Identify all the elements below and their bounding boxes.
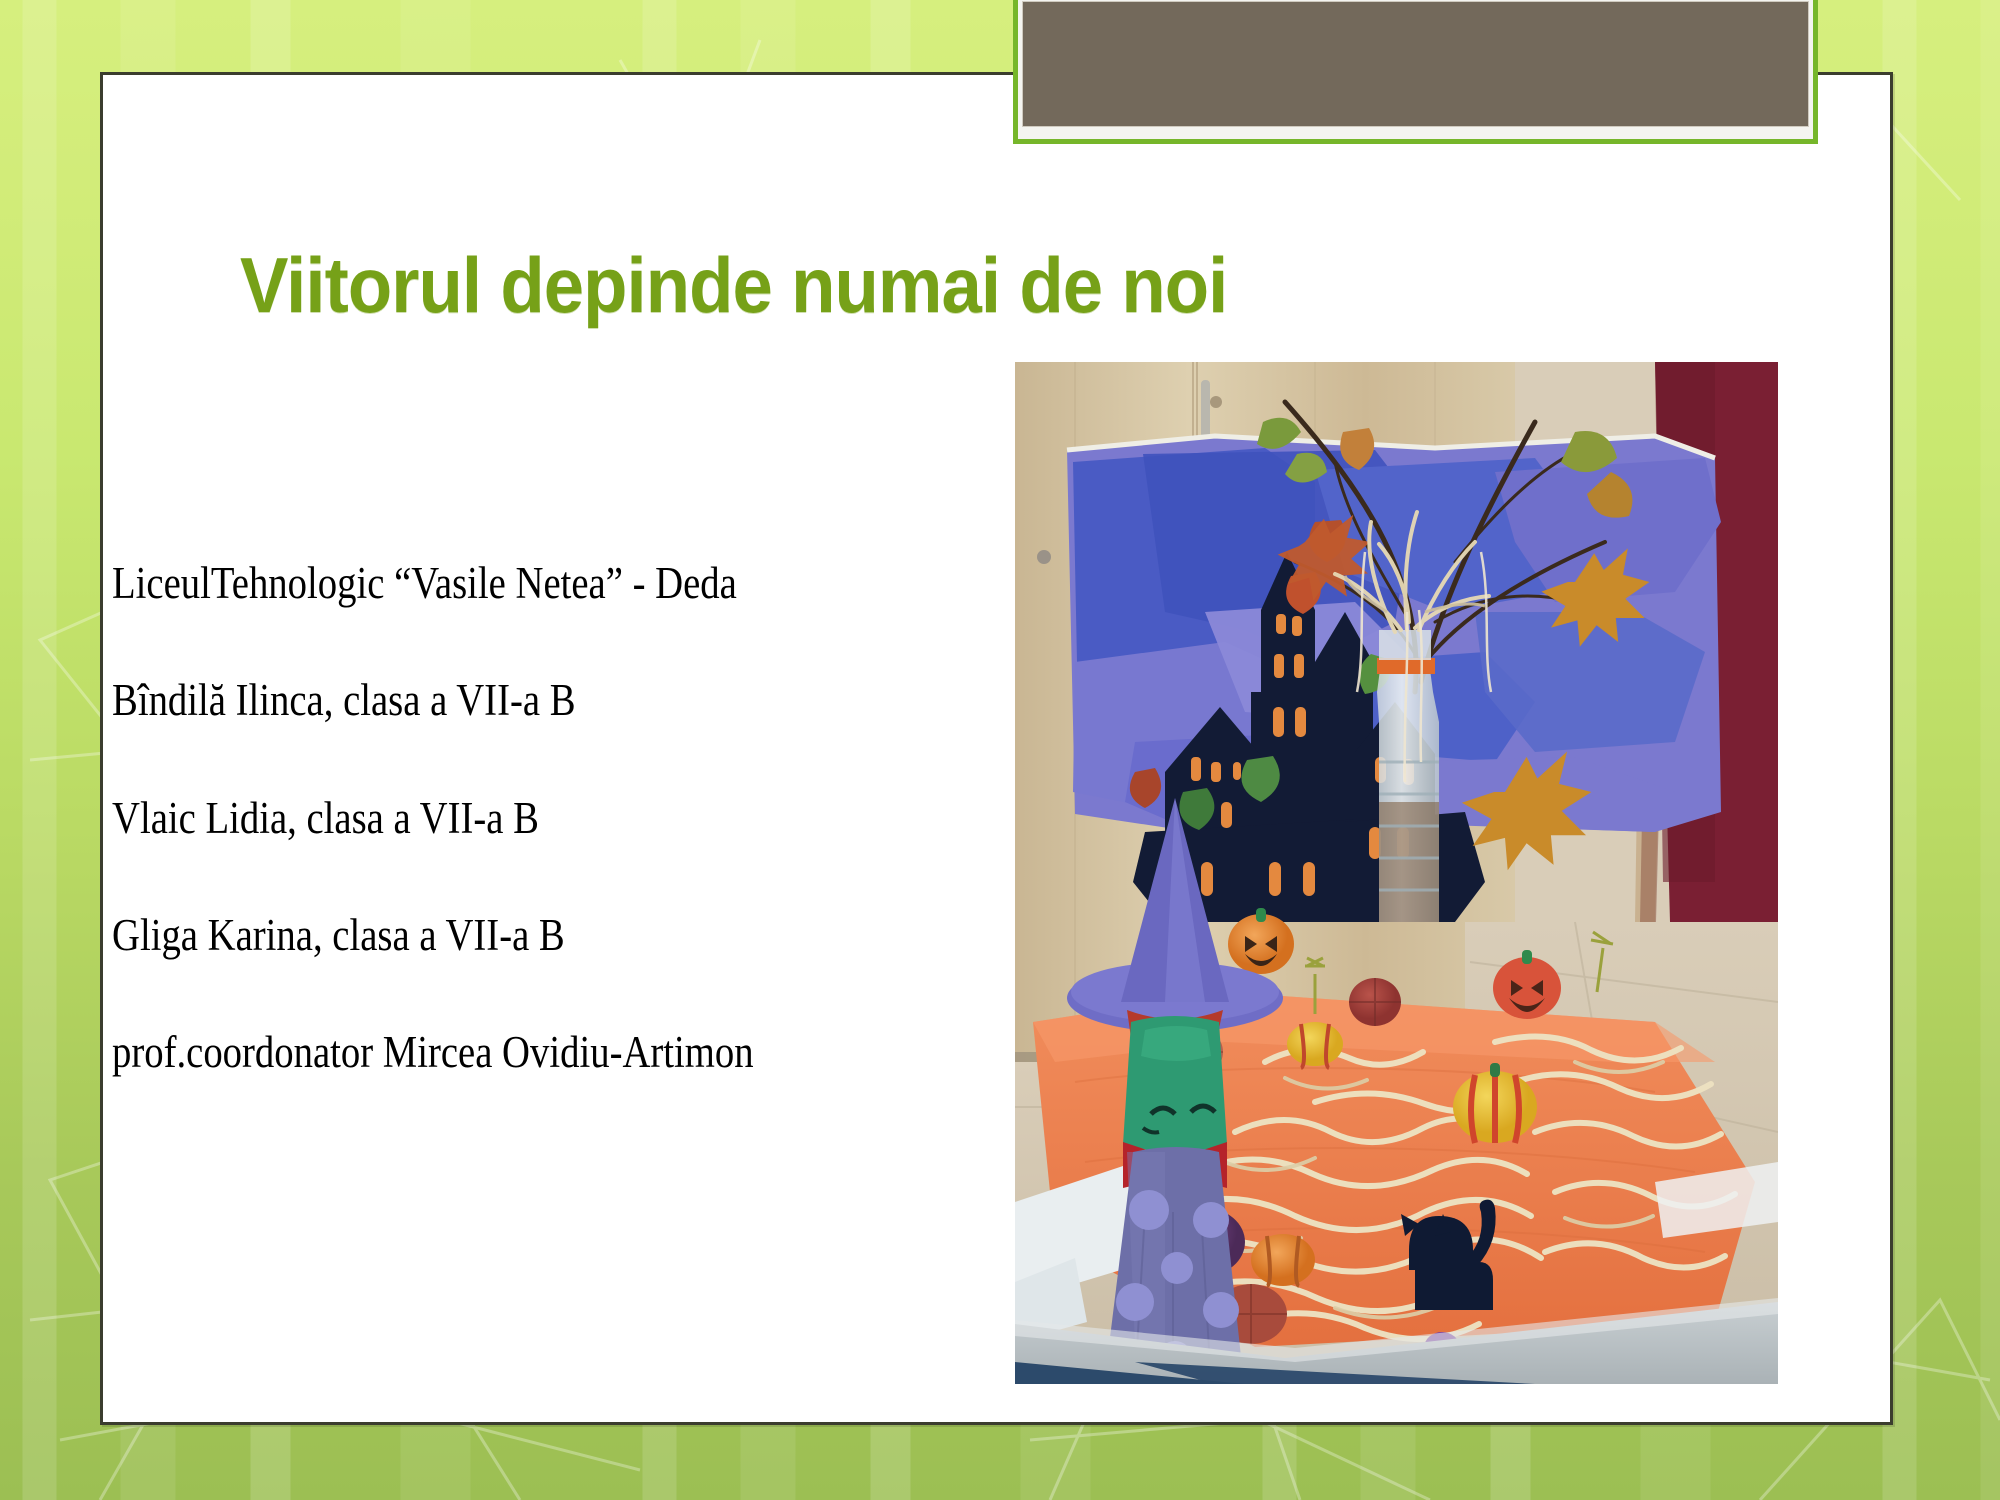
halloween-diorama-photo (1015, 362, 1778, 1384)
presentation-slide: Viitorul depinde numai de noi LiceulTehn… (0, 0, 2000, 1500)
body-line-student-1: Bîndilă Ilinca, clasa a VII-a B (112, 677, 886, 724)
body-line-student-3: Gliga Karina, clasa a VII-a B (112, 912, 886, 959)
body-text-block: LiceulTehnologic “Vasile Netea” - Deda B… (112, 560, 1012, 1076)
body-line-coordinator: prof.coordonator Mircea Ovidiu-Artimon (112, 1029, 886, 1076)
decoration-fill (1022, 1, 1809, 127)
photo-illustration (1015, 362, 1778, 1384)
body-line-student-2: Vlaic Lidia, clasa a VII-a B (112, 795, 886, 842)
body-line-school: LiceulTehnologic “Vasile Netea” - Deda (112, 560, 886, 607)
page-title: Viitorul depinde numai de noi (240, 246, 1227, 324)
top-right-decoration-frame (1013, 0, 1818, 144)
